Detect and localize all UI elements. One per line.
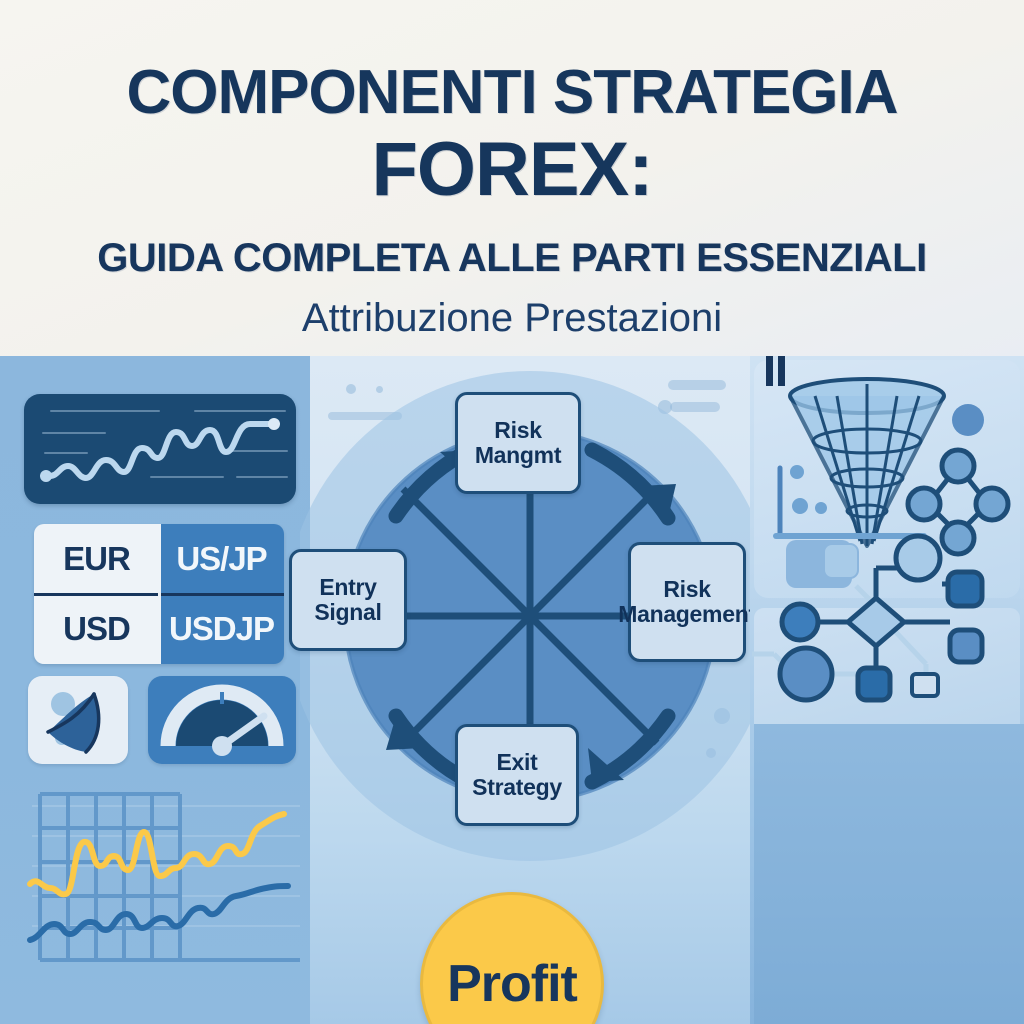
heatmap-card	[754, 724, 1024, 1024]
node-risk-management-label: Risk Management	[618, 577, 756, 627]
node-risk-management[interactable]: Risk Management	[628, 542, 746, 662]
currency-tile-eur: EUR	[34, 524, 159, 594]
node-exit-strategy[interactable]: Exit Strategy	[455, 724, 579, 826]
currency-tile-usjp: US/JP	[159, 524, 284, 594]
sparkline-path	[24, 394, 296, 504]
title-line-2: FOREX:	[0, 132, 1024, 208]
gauge-icon	[148, 676, 296, 764]
center-profit-label: Profit	[447, 954, 577, 1014]
title-line-3: GUIDA COMPLETA ALLE PARTI ESSENZIALI	[0, 238, 1024, 278]
flowchart-nodes-icon	[752, 526, 1024, 726]
currency-tile-usdjp: USDJP	[159, 594, 284, 664]
gauge-icon-tile	[148, 676, 296, 764]
illustration-area: EUR US/JP USD USDJP	[0, 356, 1024, 1024]
currency-tile-usd: USD	[34, 594, 159, 664]
node-entry-signal[interactable]: Entry Signal	[289, 549, 407, 651]
infographic-canvas: COMPONENTI STRATEGIA FOREX: GUIDA COMPLE…	[0, 0, 1024, 1024]
left-panel: EUR US/JP USD USDJP	[0, 356, 310, 1024]
subtitle: Attribuzione Prestazioni	[0, 298, 1024, 338]
header-band: COMPONENTI STRATEGIA FOREX: GUIDA COMPLE…	[0, 0, 1024, 356]
currency-divider-vertical	[158, 524, 161, 664]
left-grid-chart	[22, 788, 310, 970]
currency-pair-tiles: EUR US/JP USD USDJP	[34, 524, 284, 664]
node-risk-mangmt-label: Risk Mangmt	[458, 418, 578, 468]
title-line-1: COMPONENTI STRATEGIA	[0, 62, 1024, 124]
analysis-shape-icon	[28, 676, 128, 764]
node-exit-strategy-label: Exit Strategy	[458, 750, 576, 800]
node-risk-mangmt[interactable]: Risk Mangmt	[455, 392, 581, 494]
node-entry-signal-label: Entry Signal	[292, 575, 404, 625]
trend-sparkline-card	[24, 394, 296, 504]
analysis-shape-icon-tile	[28, 676, 128, 764]
